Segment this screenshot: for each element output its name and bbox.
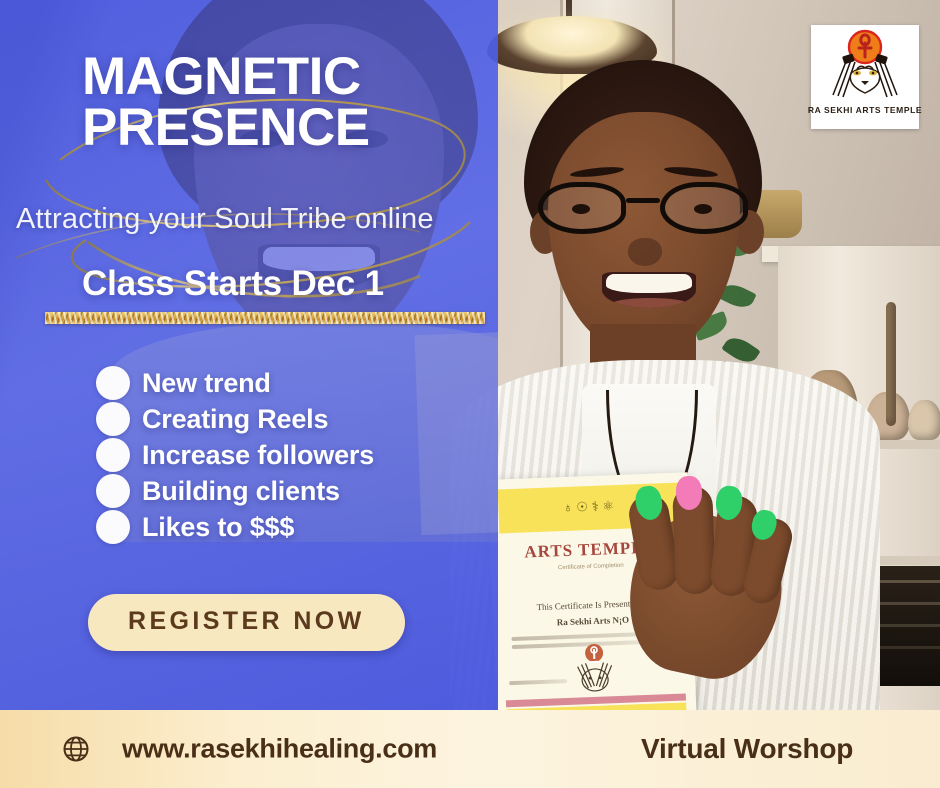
page-title: MAGNETIC PRESENCE: [82, 52, 482, 154]
eyeglasses-icon: [538, 182, 748, 234]
list-item: Building clients: [96, 474, 496, 508]
gold-divider: [45, 312, 485, 324]
feature-list: New trend Creating Reels Increase follow…: [96, 366, 496, 546]
ra-sekhi-arts-temple-logo: RA SEKHI ARTS TEMPLE: [811, 25, 919, 129]
bullet-dot-icon: [96, 510, 130, 544]
logo-wordmark: RA SEKHI ARTS TEMPLE: [808, 105, 922, 115]
hand-holding-certificate: [594, 460, 794, 690]
list-item-label: Increase followers: [142, 440, 374, 471]
headline-line-2: PRESENCE: [82, 103, 482, 154]
subtitle: Attracting your Soul Tribe online: [16, 203, 496, 236]
ankh-lioness-icon: [817, 29, 913, 105]
bullet-dot-icon: [96, 402, 130, 436]
woman-portrait: ♁ ☉ ⚕ ⚛ ARTS TEMPLE Certificate of Compl…: [486, 60, 858, 710]
list-item-label: Building clients: [142, 476, 340, 507]
bullet-dot-icon: [96, 474, 130, 508]
globe-icon: [62, 735, 90, 763]
smile: [602, 272, 696, 308]
footer-bar: www.rasekhihealing.com Virtual Worshop: [0, 710, 940, 788]
list-item-label: Creating Reels: [142, 404, 328, 435]
class-start-date: Class Starts Dec 1: [82, 264, 384, 304]
list-item-label: Likes to $$$: [142, 512, 294, 543]
promotional-flyer: ♁ ☉ ⚕ ⚛ ARTS TEMPLE Certificate of Compl…: [0, 0, 940, 788]
bullet-dot-icon: [96, 366, 130, 400]
workshop-label: Virtual Worshop: [641, 733, 853, 765]
list-item: Increase followers: [96, 438, 496, 472]
list-item-label: New trend: [142, 368, 271, 399]
list-item: Likes to $$$: [96, 510, 496, 544]
register-now-button[interactable]: REGISTER NOW: [88, 594, 405, 651]
bullet-dot-icon: [96, 438, 130, 472]
nose: [628, 238, 662, 266]
artifact-stem: [886, 302, 896, 426]
list-item: Creating Reels: [96, 402, 496, 436]
website-url[interactable]: www.rasekhihealing.com: [122, 734, 437, 765]
artifact-sculpture: [908, 400, 940, 440]
list-item: New trend: [96, 366, 496, 400]
